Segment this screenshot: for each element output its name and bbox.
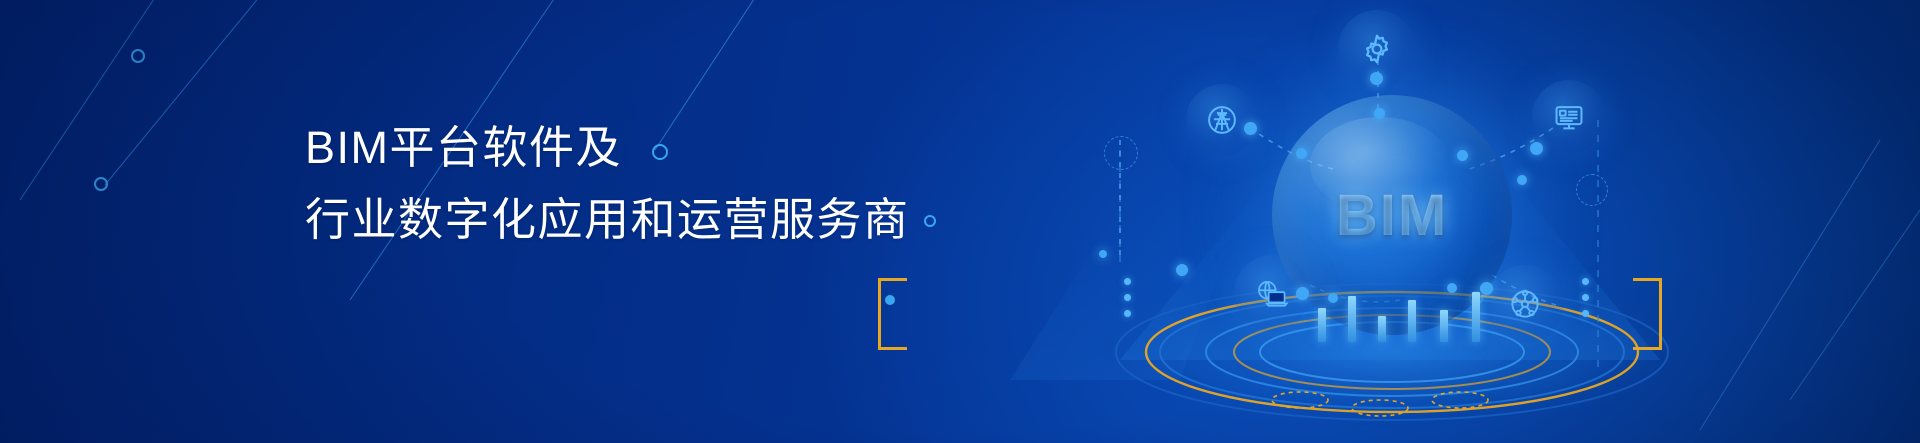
dot — [1582, 278, 1589, 285]
stray-dot-left-1 — [1176, 264, 1188, 276]
data-bar — [1378, 316, 1386, 342]
hollow-ring-right — [1576, 174, 1608, 206]
data-bar — [1472, 292, 1480, 342]
dot-column-left — [1124, 278, 1131, 326]
dot — [1582, 310, 1589, 317]
data-bar — [1318, 308, 1326, 342]
dot — [1124, 310, 1131, 317]
headline-block: BIM平台软件及 行业数字化应用和运营服务商 — [305, 112, 910, 256]
sphere-node-upper-right — [1457, 150, 1468, 161]
dot — [1124, 294, 1131, 301]
monitor-loose-dot — [1517, 175, 1527, 185]
power-tower-connector-dot — [1244, 122, 1257, 135]
data-bar — [1408, 300, 1416, 342]
network-connector-dot — [1480, 282, 1493, 295]
hero-banner: BIM平台软件及 行业数字化应用和运营服务商 — [0, 0, 1920, 443]
sphere-node-top — [1374, 108, 1385, 119]
icon-bubble-network-node[interactable] — [1486, 265, 1564, 343]
dot — [1582, 294, 1589, 301]
power-tower-icon — [1204, 102, 1240, 138]
network-node-icon — [1507, 286, 1543, 322]
sphere-node-lower-left — [1328, 293, 1338, 303]
globe-laptop-icon — [1254, 276, 1290, 310]
icon-bubble-monitor[interactable] — [1532, 80, 1606, 154]
headline-line-2: 行业数字化应用和运营服务商 — [305, 184, 910, 256]
icon-bubble-power-tower[interactable] — [1186, 84, 1258, 156]
data-bar — [1440, 310, 1448, 342]
monitor-icon — [1552, 100, 1586, 134]
gear-connector-dot — [1370, 72, 1383, 85]
dot — [1124, 278, 1131, 285]
headline-line-1: BIM平台软件及 — [305, 112, 910, 184]
bracket-right-icon — [1633, 278, 1662, 350]
gear-icon — [1360, 32, 1394, 66]
sphere-node-lower-right — [1447, 283, 1457, 293]
hollow-ring-left — [1104, 136, 1138, 170]
data-bar — [1348, 296, 1356, 342]
monitor-connector-dot — [1530, 142, 1543, 155]
bracket-left-icon — [878, 278, 907, 350]
connector-curves — [0, 0, 1920, 443]
dot-column-right — [1582, 278, 1589, 326]
sphere-node-upper-left — [1296, 148, 1307, 159]
globe-laptop-connector-dot — [1296, 287, 1309, 300]
stray-dot-left-2 — [1099, 250, 1107, 258]
